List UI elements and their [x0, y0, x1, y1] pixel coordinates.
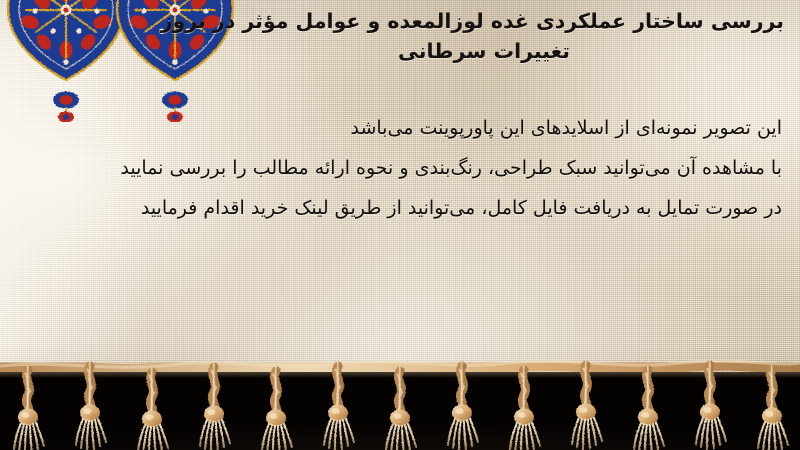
slide-title: بررسی ساختار عملکردی غده لوزالمعده و عوا… [184, 6, 784, 66]
bottom-black-band [0, 372, 800, 450]
slide-body-text: این تصویر نمونه‌ای از اسلایدهای این پاور… [14, 108, 782, 228]
slide-title-line-2: تغییرات سرطانی [184, 36, 784, 66]
body-line-2: با مشاهده آن می‌توانید سبک طراحی، رنگ‌بن… [14, 148, 782, 188]
body-line-3: در صورت تمایل به دریافت فایل کامل، می‌تو… [14, 188, 782, 228]
body-line-1: این تصویر نمونه‌ای از اسلایدهای این پاور… [14, 108, 782, 148]
slide-canvas: بررسی ساختار عملکردی غده لوزالمعده و عوا… [0, 0, 800, 450]
slide-title-line-1: بررسی ساختار عملکردی غده لوزالمعده و عوا… [184, 6, 784, 36]
